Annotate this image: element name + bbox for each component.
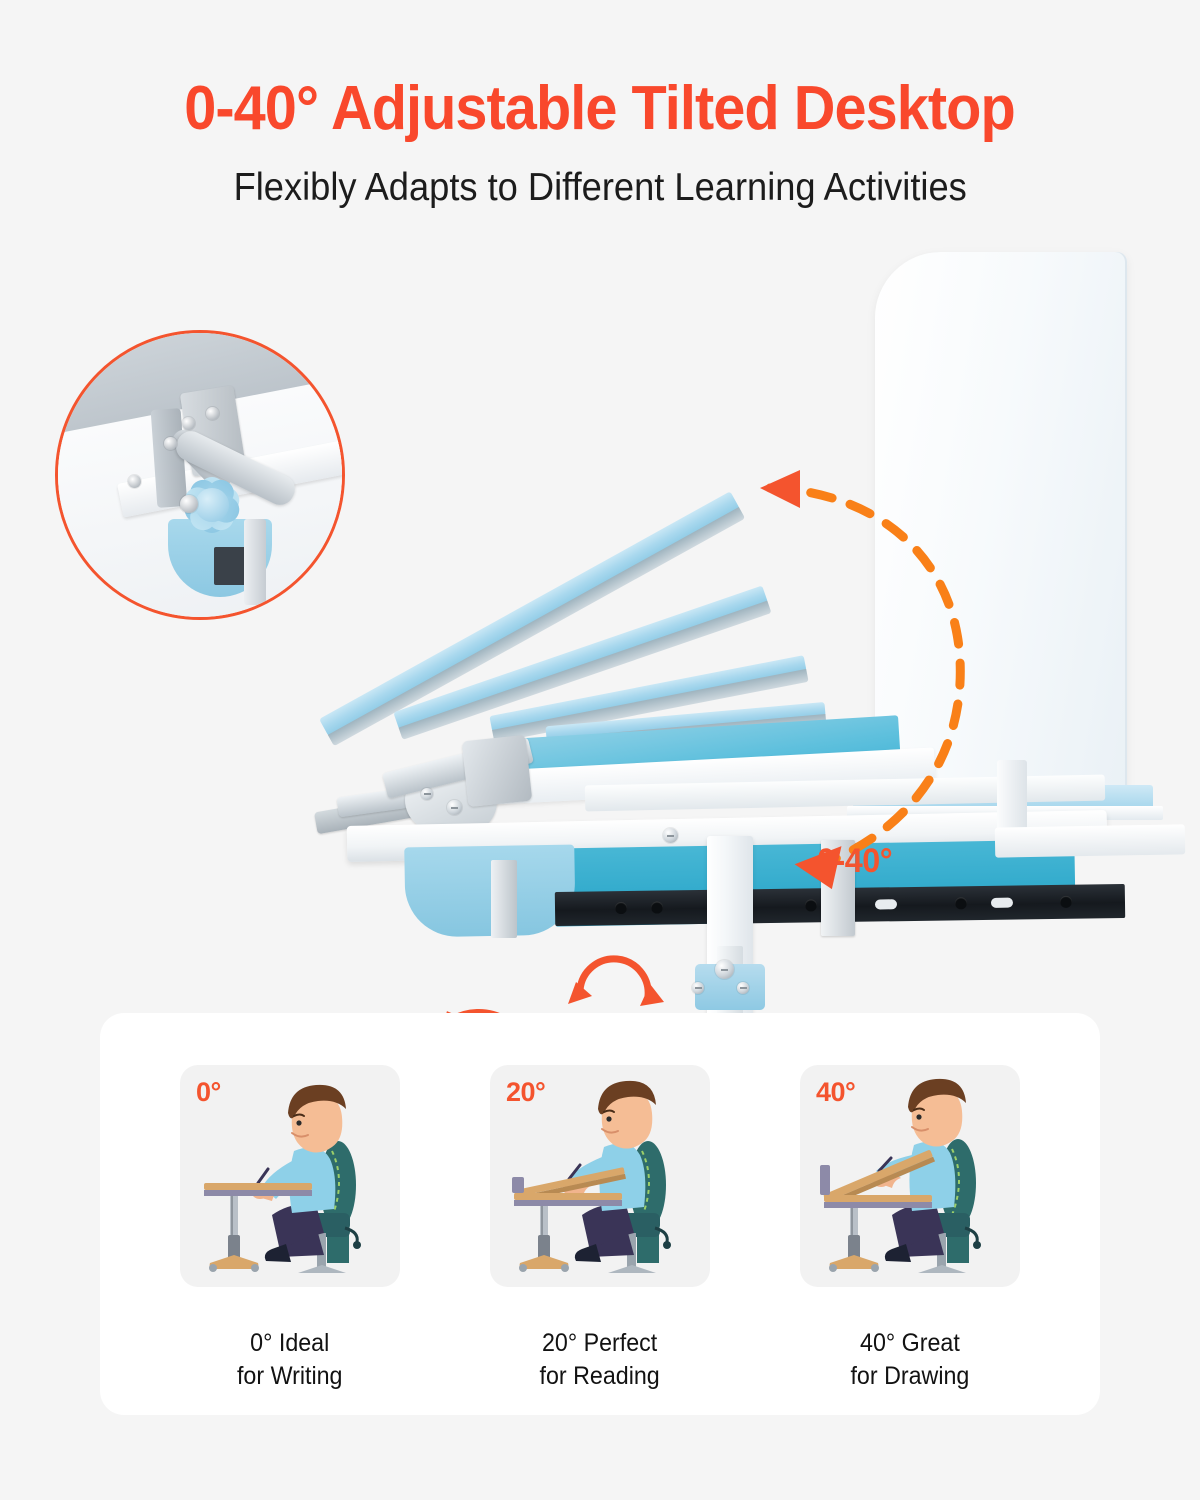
column-screw [692, 982, 704, 994]
inset-screw [206, 407, 219, 420]
inset-black-block [214, 547, 246, 585]
hinge-screw [421, 788, 433, 800]
usage-card-0deg[interactable]: 0° [180, 1065, 400, 1415]
inset-knob-center [195, 488, 229, 522]
page-title: 0-40° Adjustable Tilted Desktop [185, 78, 1016, 140]
product-photo [255, 240, 1185, 1020]
upright-tabletop-panel [875, 252, 1127, 797]
usage-tile-40deg: 40° [800, 1065, 1020, 1287]
usage-tile-0deg: 0° [180, 1065, 400, 1287]
inset-screw [128, 475, 141, 488]
angle-badge-40deg: 40° [816, 1077, 855, 1108]
inset-pivot-screw [180, 495, 198, 513]
page-subtitle: Flexibly Adapts to Different Learning Ac… [233, 166, 966, 210]
angle-badge-20deg: 20° [506, 1077, 545, 1108]
usage-card-20deg[interactable]: 20° [490, 1065, 710, 1415]
right-extension-arm [995, 824, 1185, 857]
frame-screw [663, 828, 678, 843]
inset-screw [182, 417, 195, 430]
column-screw [737, 982, 749, 994]
usage-caption-40deg: 40° Great for Drawing [851, 1327, 970, 1392]
right-support-post [997, 760, 1027, 830]
slide-mounting-strap [821, 840, 855, 936]
hinge-support-block [462, 735, 533, 807]
angle-badge-0deg: 0° [196, 1077, 221, 1108]
knob-mounting-strap [491, 860, 517, 938]
usage-scenarios-panel: 0° [100, 1013, 1100, 1415]
usage-card-40deg[interactable]: 40° [800, 1065, 1020, 1415]
usage-tile-20deg: 20° [490, 1065, 710, 1287]
usage-card-list: 0° [100, 1013, 1100, 1415]
usage-caption-0deg: 0° Ideal for Writing [237, 1327, 343, 1392]
header: 0-40° Adjustable Tilted Desktop Flexibly… [0, 0, 1200, 240]
column-screw [715, 960, 734, 979]
frame-screw [447, 800, 462, 815]
drawer-front-panel [404, 845, 576, 938]
inset-screw [164, 437, 177, 450]
usage-caption-20deg: 20° Perfect for Reading [540, 1327, 660, 1392]
hero-product-stage: 0-40° Please tighten the knob after adju… [0, 230, 1200, 1020]
